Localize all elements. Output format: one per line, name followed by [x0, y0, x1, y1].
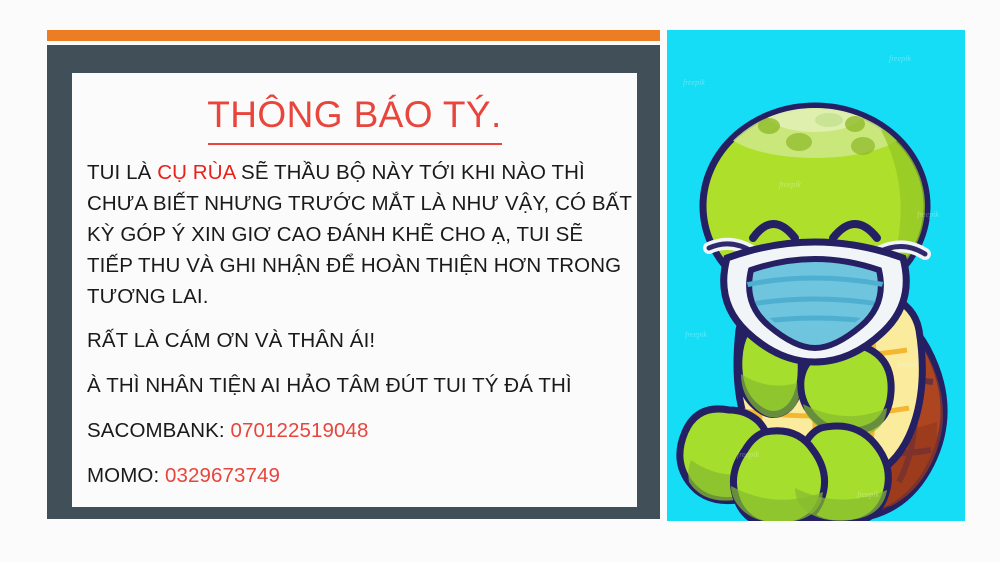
paragraph-sacombank: SACOMBANK: 070122519048 [87, 415, 632, 446]
slide-canvas: THÔNG BÁO TÝ. TUI LÀ CỤ RÙA SẼ THẦU BỘ N… [0, 0, 1000, 562]
page-title: THÔNG BÁO TÝ. [72, 94, 637, 136]
turtle-illustration [667, 30, 965, 521]
paragraph-donate-intro: À THÌ NHÂN TIỆN AI HẢO TÂM ĐÚT TUI TÝ ĐÁ… [87, 370, 632, 401]
sacombank-account-number[interactable]: 070122519048 [231, 419, 369, 442]
notice-body-text: TUI LÀ CỤ RÙA SẼ THẦU BỘ NÀY TỚI KHI NÀO… [87, 157, 632, 505]
paragraph-thanks: RẤT LÀ CÁM ƠN VÀ THÂN ÁI! [87, 325, 632, 356]
notice-white-panel: THÔNG BÁO TÝ. TUI LÀ CỤ RÙA SẼ THẦU BỘ N… [72, 73, 637, 507]
highlight-cu-rua: CỤ RÙA [157, 161, 235, 184]
sacombank-label: SACOMBANK: [87, 419, 231, 442]
momo-label: MOMO: [87, 464, 165, 487]
momo-account-number[interactable]: 0329673749 [165, 464, 280, 487]
turtle-front-feet [731, 426, 888, 521]
thanks-text: RẤT LÀ CÁM ƠN VÀ THÂN ÁI! [87, 329, 375, 352]
intro-text-1: TUI LÀ [87, 161, 157, 184]
orange-accent-bar [47, 30, 660, 41]
paragraph-intro: TUI LÀ CỤ RÙA SẼ THẦU BỘ NÀY TỚI KHI NÀO… [87, 157, 632, 312]
title-underline [208, 143, 502, 145]
paragraph-momo: MOMO: 0329673749 [87, 460, 632, 491]
donate-intro-text: À THÌ NHÂN TIỆN AI HẢO TÂM ĐÚT TUI TÝ ĐÁ… [87, 374, 572, 397]
announcement-card: THÔNG BÁO TÝ. TUI LÀ CỤ RÙA SẼ THẦU BỘ N… [47, 30, 660, 519]
dark-frame-border: THÔNG BÁO TÝ. TUI LÀ CỤ RÙA SẼ THẦU BỘ N… [47, 45, 660, 519]
illustration-panel: freepik freepik freepik freepik freepik … [667, 30, 965, 521]
